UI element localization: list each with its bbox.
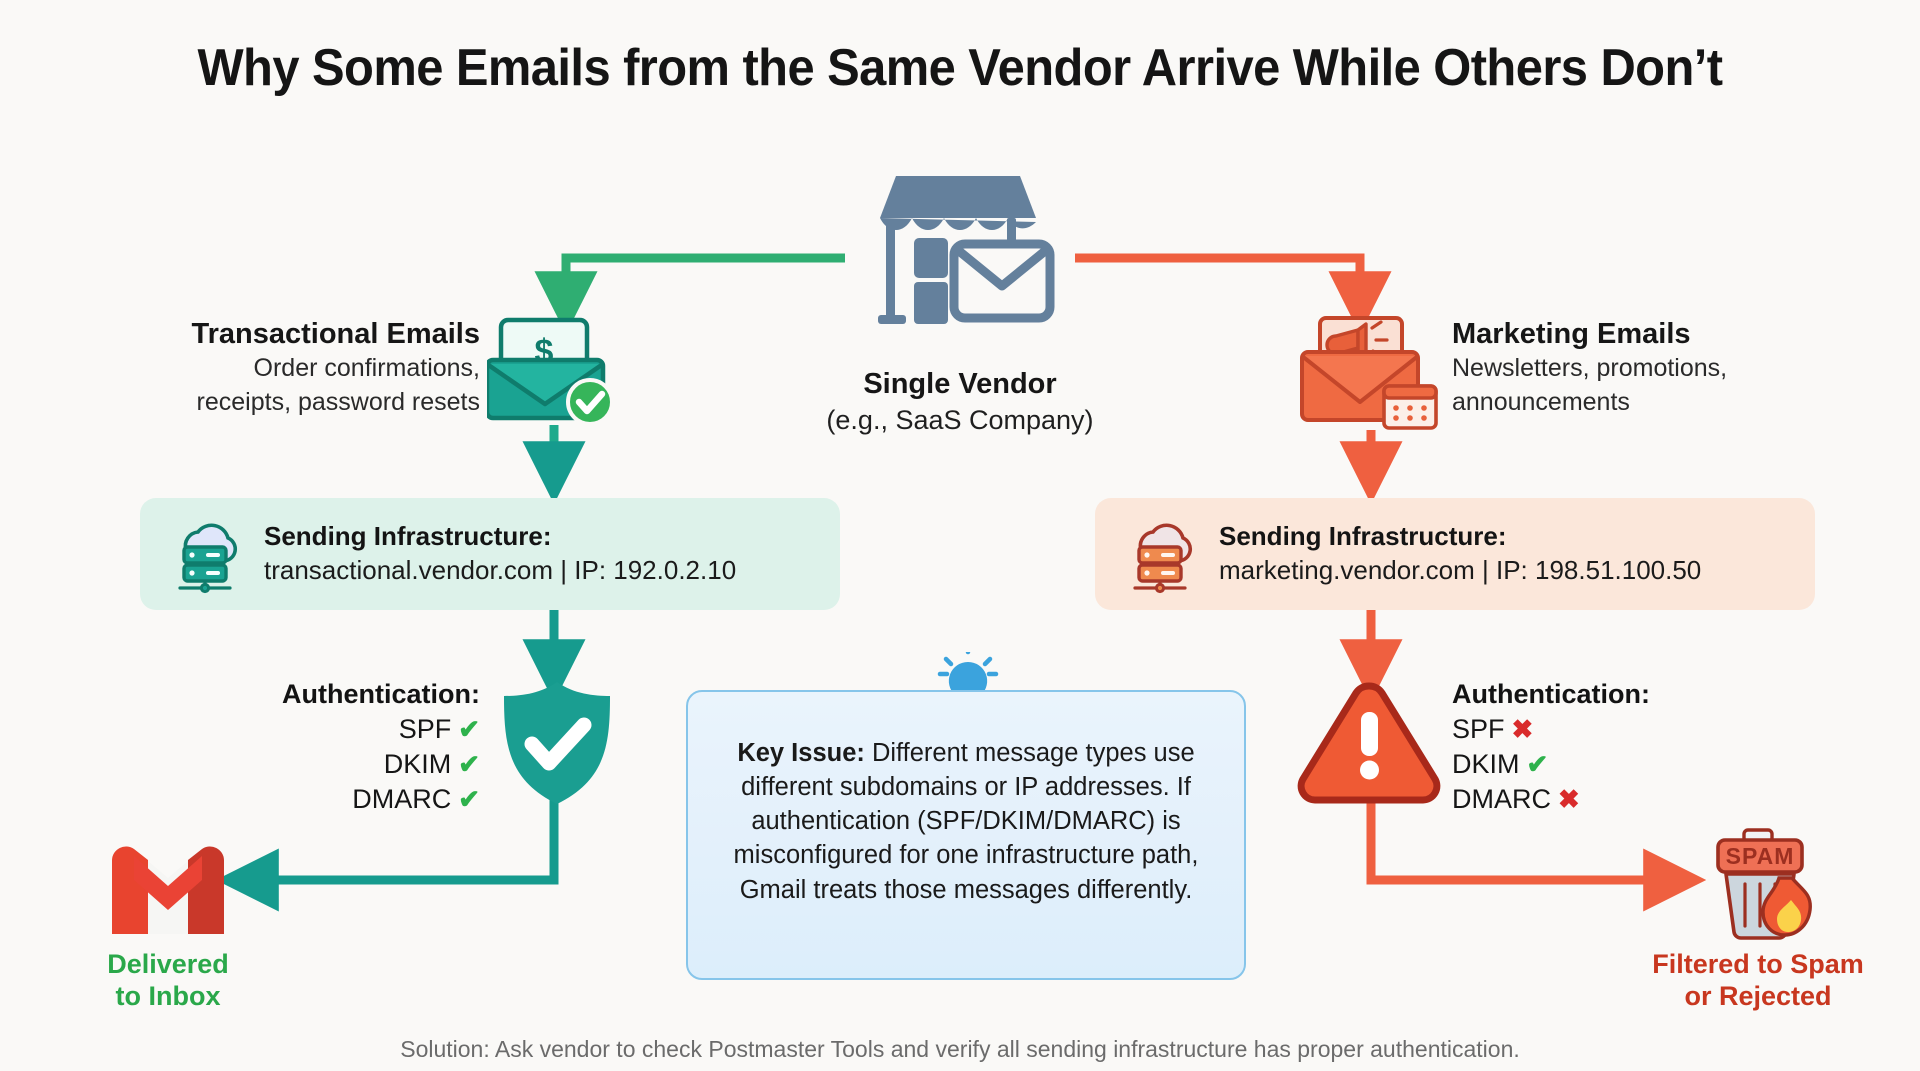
delivered-outcome-group: Delivered to Inbox	[40, 948, 296, 1013]
marketing-authentication-group: Authentication: SPF✖ DKIM✔ DMARC✖	[1452, 678, 1792, 817]
auth-row-dmarc-right: DMARC✖	[1452, 782, 1792, 817]
receipt-envelope-check-icon: $	[487, 308, 619, 428]
warning-triangle-icon	[1295, 678, 1443, 804]
key-issue-callout: Key Issue: Different message types use d…	[686, 690, 1246, 980]
connector-vendor-to-transactional	[566, 258, 845, 300]
auth-row-dkim-right: DKIM✔	[1452, 747, 1792, 782]
marketing-sub-line2: announcements	[1452, 387, 1852, 418]
auth-row-dkim-left: DKIM✔	[180, 747, 480, 782]
transactional-sub-line2: receipts, password resets	[100, 387, 480, 418]
transactional-infra-value: transactional.vendor.com | IP: 192.0.2.1…	[264, 554, 736, 587]
auth-row-dkim-left-name: DKIM	[384, 749, 452, 779]
marketing-heading: Marketing Emails	[1452, 318, 1852, 350]
spam-label-line1: Filtered to Spam	[1608, 948, 1908, 980]
spam-trash-fire-icon: SPAM	[1700, 826, 1826, 942]
marketing-infra-value: marketing.vendor.com | IP: 198.51.100.50	[1219, 554, 1701, 587]
marketing-label-group: Marketing Emails Newsletters, promotions…	[1452, 318, 1852, 417]
auth-row-dmarc-left: DMARC✔	[180, 782, 480, 817]
transactional-authentication-group: Authentication: SPF✔ DKIM✔ DMARC✔	[180, 678, 480, 817]
marketing-infrastructure-card: Sending Infrastructure: marketing.vendor…	[1095, 498, 1815, 610]
auth-row-spf-left-name: SPF	[399, 714, 452, 744]
svg-text:SPAM: SPAM	[1726, 843, 1795, 869]
solution-footer: Solution: Ask vendor to check Postmaster…	[0, 1036, 1920, 1063]
vendor-label-group: Single Vendor (e.g., SaaS Company)	[730, 368, 1190, 436]
key-issue-lead: Key Issue:	[737, 739, 865, 767]
auth-row-spf-right-mark: ✖	[1512, 714, 1534, 744]
shield-check-icon	[496, 678, 618, 808]
spam-label-line2: or Rejected	[1608, 980, 1908, 1012]
auth-row-spf-left: SPF✔	[180, 712, 480, 747]
auth-row-dkim-right-mark: ✔	[1527, 749, 1549, 779]
delivered-label-line2: to Inbox	[40, 980, 296, 1012]
cloud-server-icon	[1121, 514, 1201, 594]
spam-outcome-group: Filtered to Spam or Rejected	[1608, 948, 1908, 1013]
connector-vendor-to-marketing	[1075, 258, 1360, 300]
auth-row-dmarc-right-mark: ✖	[1558, 784, 1580, 814]
cloud-server-icon	[166, 514, 246, 594]
marketing-auth-title: Authentication:	[1452, 678, 1792, 712]
transactional-label-group: Transactional Emails Order confirmations…	[100, 318, 480, 417]
transactional-heading: Transactional Emails	[100, 318, 480, 350]
auth-row-dmarc-left-name: DMARC	[352, 784, 451, 814]
megaphone-envelope-calendar-icon	[1300, 308, 1440, 432]
auth-row-dmarc-left-mark: ✔	[458, 784, 480, 814]
marketing-infra-label: Sending Infrastructure:	[1219, 521, 1701, 552]
storefront-envelope-icon	[858, 160, 1058, 335]
gmail-icon	[102, 838, 234, 942]
auth-row-dkim-right-name: DKIM	[1452, 749, 1520, 779]
vendor-heading: Single Vendor	[730, 368, 1190, 401]
key-issue-text: Key Issue: Different message types use d…	[714, 736, 1218, 907]
vendor-subheading: (e.g., SaaS Company)	[730, 405, 1190, 436]
marketing-sub-line1: Newsletters, promotions,	[1452, 353, 1852, 384]
auth-row-spf-right: SPF✖	[1452, 712, 1792, 747]
infographic-canvas: Why Some Emails from the Same Vendor Arr…	[0, 0, 1920, 1071]
auth-row-dkim-left-mark: ✔	[458, 749, 480, 779]
auth-row-spf-right-name: SPF	[1452, 714, 1505, 744]
auth-row-dmarc-right-name: DMARC	[1452, 784, 1551, 814]
transactional-sub-line1: Order confirmations,	[100, 353, 480, 384]
transactional-infrastructure-card: Sending Infrastructure: transactional.ve…	[140, 498, 840, 610]
delivered-label-line1: Delivered	[40, 948, 296, 980]
transactional-infra-label: Sending Infrastructure:	[264, 521, 736, 552]
auth-row-spf-left-mark: ✔	[458, 714, 480, 744]
transactional-auth-title: Authentication:	[180, 678, 480, 712]
page-title: Why Some Emails from the Same Vendor Arr…	[58, 38, 1863, 98]
